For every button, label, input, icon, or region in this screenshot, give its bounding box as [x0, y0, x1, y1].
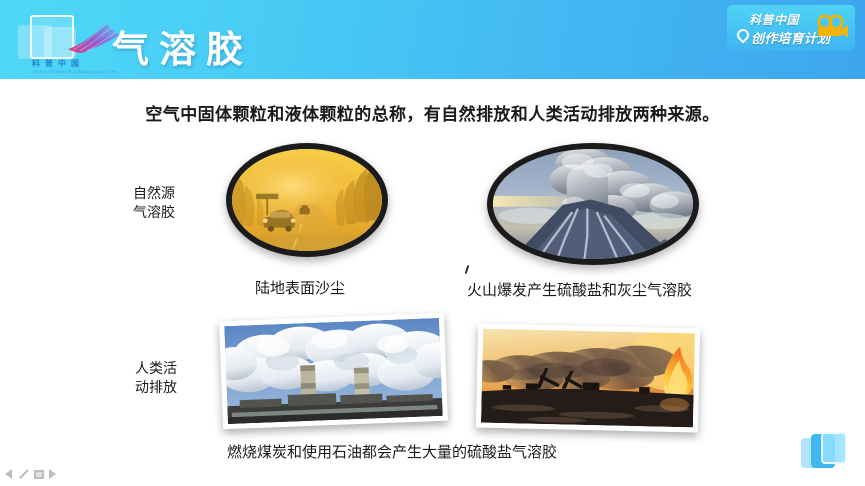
- caption-volcano: 火山爆发产生硫酸盐和灰尘气溶胶: [467, 279, 692, 300]
- oil-flare-image: [481, 329, 695, 428]
- row-label-natural-source: 自然源 气溶胶: [133, 184, 175, 222]
- slide-root: 科普中国 CHINA SCIENCE COMMUNICATION 气溶胶 科普中…: [0, 0, 865, 486]
- dust-storm-image: [232, 149, 382, 251]
- row-label-human-line2: 动排放: [135, 378, 177, 397]
- row-label-natural-line2: 气溶胶: [133, 203, 175, 222]
- row-label-human-activity: 人类活 动排放: [135, 359, 177, 397]
- power-plant-image: [224, 318, 443, 424]
- arrow-right-icon[interactable]: [49, 469, 56, 479]
- oil-flare-photo[interactable]: [476, 323, 700, 432]
- pen-icon[interactable]: [17, 468, 29, 480]
- rectangle-icon[interactable]: [34, 470, 44, 479]
- lead-sentence: 空气中固体颗粒和液体颗粒的总称，有自然排放和人类活动排放两种来源。: [0, 100, 865, 125]
- caption-dust-storm: 陆地表面沙尘: [255, 277, 345, 298]
- logo-name-cn: 科普中国: [32, 58, 84, 69]
- arrow-left-icon[interactable]: [5, 469, 12, 479]
- volcano-eruption-image: [493, 149, 693, 259]
- badge-line-1: 科普中国: [749, 11, 799, 28]
- row-label-natural-line1: 自然源: [133, 184, 175, 203]
- watermark-card-front: [821, 432, 847, 464]
- pointer-tick-mark: [465, 265, 470, 274]
- page-title: 气溶胶: [112, 19, 253, 73]
- location-pin-icon: [735, 27, 752, 44]
- volcano-eruption-photo[interactable]: [487, 143, 699, 265]
- campaign-badge: 科普中国 创作培育计划: [727, 5, 855, 51]
- film-projector-icon: [815, 13, 849, 39]
- dust-storm-photo[interactable]: [226, 143, 388, 257]
- power-plant-photo[interactable]: [219, 313, 448, 430]
- brand-logo: 科普中国 CHINA SCIENCE COMMUNICATION: [14, 11, 124, 71]
- caption-human-emissions: 燃烧煤炭和使用石油都会产生大量的硫酸盐气溶胶: [227, 441, 557, 462]
- presentation-toolbar[interactable]: [5, 468, 56, 480]
- stacked-cards-icon: [799, 430, 855, 474]
- logo-name-en: CHINA SCIENCE COMMUNICATION: [31, 69, 117, 74]
- row-label-human-line1: 人类活: [135, 359, 177, 378]
- slide-header: 科普中国 CHINA SCIENCE COMMUNICATION 气溶胶 科普中…: [0, 0, 865, 79]
